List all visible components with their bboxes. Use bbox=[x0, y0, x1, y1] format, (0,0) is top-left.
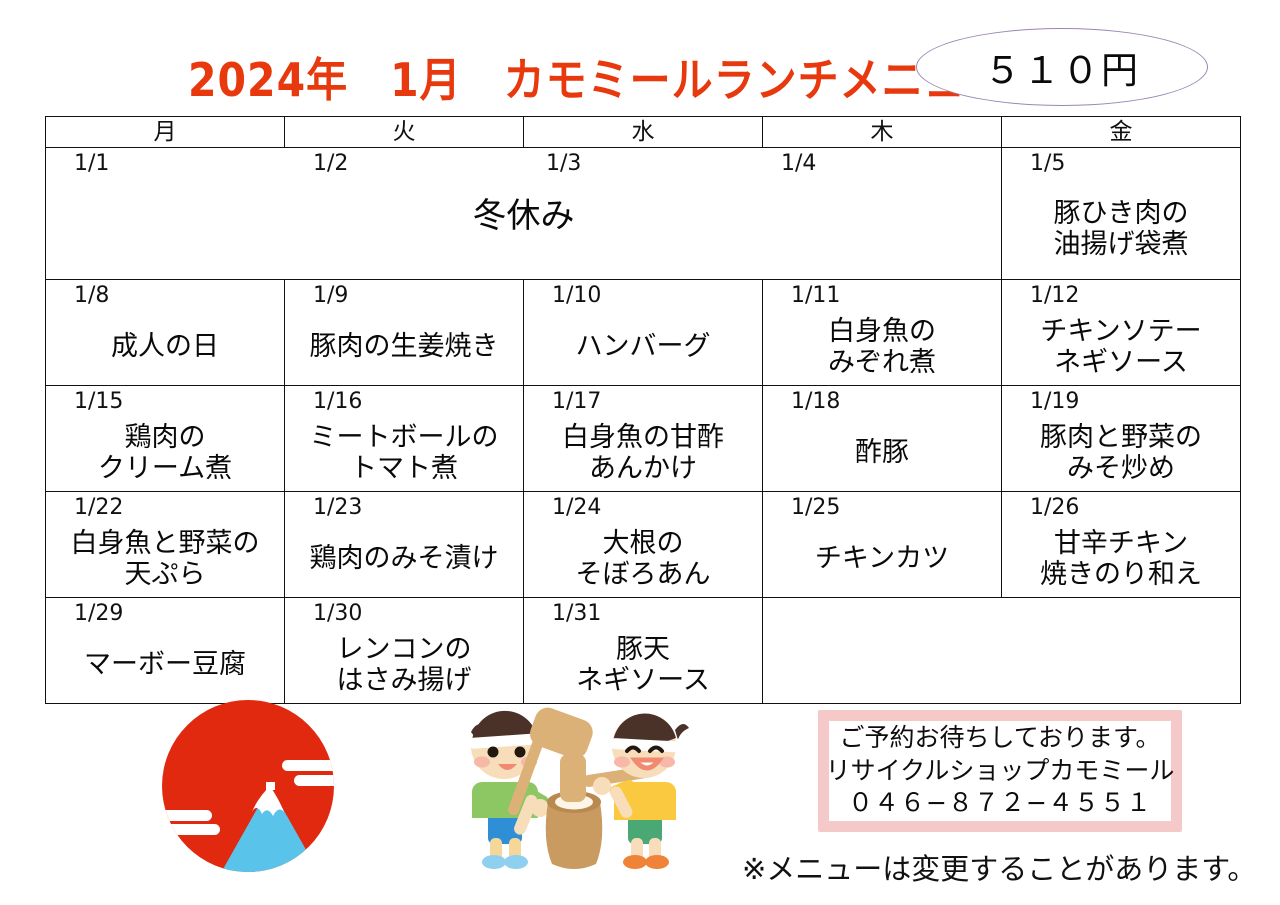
menu-cell: 1/19 豚肉と野菜の みそ炒め bbox=[1002, 386, 1241, 492]
menu-cell: 1/10 ハンバーグ bbox=[524, 280, 763, 386]
menu-cell: 1/26 甘辛チキン 焼きのり和え bbox=[1002, 492, 1241, 598]
table-row: 1/22 白身魚と野菜の 天ぷら 1/23 鶏肉のみそ漬け 1/24 大根の bbox=[46, 492, 1241, 598]
dish-name: 成人の日 bbox=[46, 310, 284, 385]
date-label: 1/9 bbox=[285, 283, 523, 308]
dish-name: 白身魚と野菜の 天ぷら bbox=[46, 522, 284, 597]
weekday-header-fri: 金 bbox=[1002, 117, 1241, 148]
menu-cell: 1/25 チキンカツ bbox=[763, 492, 1002, 598]
date-label: 1/22 bbox=[46, 495, 284, 520]
menu-change-notice: ※メニューは変更することがあります。 bbox=[742, 846, 1256, 888]
page-title: 2024年 1月 カモミールランチメニュー bbox=[188, 42, 1008, 109]
table-header-row: 月 火 水 木 金 bbox=[46, 117, 1241, 148]
mortar-usu bbox=[546, 791, 603, 869]
date-label: 1/23 bbox=[285, 495, 523, 520]
menu-cell: 1/22 白身魚と野菜の 天ぷら bbox=[46, 492, 285, 598]
dish-name: ミートボールの トマト煮 bbox=[285, 416, 523, 491]
date-label: 1/8 bbox=[46, 283, 284, 308]
stamp-edge-top bbox=[824, 705, 1176, 716]
dish-name: チキンカツ bbox=[763, 522, 1001, 597]
date-label: 1/31 bbox=[524, 601, 762, 626]
dish-name: 豚肉と野菜の みそ炒め bbox=[1002, 416, 1240, 491]
dish-name: 酢豚 bbox=[763, 416, 1001, 491]
dish-name: レンコンの はさみ揚げ bbox=[285, 628, 523, 703]
date-label: 1/26 bbox=[1002, 495, 1240, 520]
winter-break-cell: 1/1 1/2 1/3 1/4 冬休み bbox=[46, 148, 1002, 280]
price-badge: ５１０円 bbox=[916, 28, 1208, 106]
dish-name: ハンバーグ bbox=[524, 310, 762, 385]
dish-name: 豚肉の生姜焼き bbox=[285, 310, 523, 385]
reservation-line-1: ご予約お待ちしております。 bbox=[839, 722, 1160, 755]
menu-calendar-table: 月 火 水 木 金 1/1 1/2 1/3 1/4 冬休み bbox=[45, 116, 1241, 704]
menu-poster: 2024年 1月 カモミールランチメニュー ５１０円 月 火 水 木 金 1/1 bbox=[0, 0, 1280, 905]
dish-name: 白身魚の甘酢 あんかけ bbox=[524, 416, 762, 491]
date-label: 1/4 bbox=[781, 151, 816, 176]
dish-name: 甘辛チキン 焼きのり和え bbox=[1002, 522, 1240, 597]
empty-cell bbox=[763, 598, 1241, 704]
menu-cell: 1/5 豚ひき肉の 油揚げ袋煮 bbox=[1002, 148, 1241, 280]
mount-fuji-sunrise-icon bbox=[142, 700, 354, 878]
weekday-header-tue: 火 bbox=[285, 117, 524, 148]
dish-name: 鶏肉の クリーム煮 bbox=[46, 416, 284, 491]
menu-cell: 1/11 白身魚の みぞれ煮 bbox=[763, 280, 1002, 386]
weekday-header-wed: 水 bbox=[524, 117, 763, 148]
date-label: 1/19 bbox=[1002, 389, 1240, 414]
dish-name: マーボー豆腐 bbox=[46, 628, 284, 703]
weekday-header-mon: 月 bbox=[46, 117, 285, 148]
weekday-header-thu: 木 bbox=[763, 117, 1002, 148]
dish-name: チキンソテー ネギソース bbox=[1002, 310, 1240, 385]
table-row: 1/8 成人の日 1/9 豚肉の生姜焼き 1/10 ハンバーグ bbox=[46, 280, 1241, 386]
menu-cell: 1/16 ミートボールの トマト煮 bbox=[285, 386, 524, 492]
menu-cell: 1/18 酢豚 bbox=[763, 386, 1002, 492]
mochi-pounding-children-icon bbox=[432, 698, 712, 880]
stamp-edge-bottom bbox=[824, 826, 1176, 837]
date-label: 1/17 bbox=[524, 389, 762, 414]
dish-name: 豚ひき肉の 油揚げ袋煮 bbox=[1002, 180, 1240, 279]
date-label: 1/11 bbox=[763, 283, 1001, 308]
table-row: 1/1 1/2 1/3 1/4 冬休み 1/5 豚ひき肉の 油揚げ袋煮 bbox=[46, 148, 1241, 280]
date-label: 1/24 bbox=[524, 495, 762, 520]
date-label: 1/15 bbox=[46, 389, 284, 414]
date-label: 1/5 bbox=[1002, 151, 1240, 176]
table-row: 1/15 鶏肉の クリーム煮 1/16 ミートボールの トマト煮 1/17 bbox=[46, 386, 1241, 492]
menu-cell: 1/31 豚天 ネギソース bbox=[524, 598, 763, 704]
menu-cell: 1/23 鶏肉のみそ漬け bbox=[285, 492, 524, 598]
menu-cell: 1/8 成人の日 bbox=[46, 280, 285, 386]
menu-cell: 1/30 レンコンの はさみ揚げ bbox=[285, 598, 524, 704]
date-label: 1/12 bbox=[1002, 283, 1240, 308]
date-label: 1/3 bbox=[546, 151, 581, 176]
price-text: ５１０円 bbox=[984, 40, 1140, 94]
child-right bbox=[593, 714, 693, 869]
menu-cell: 1/24 大根の そぼろあん bbox=[524, 492, 763, 598]
menu-cell: 1/29 マーボー豆腐 bbox=[46, 598, 285, 704]
dish-name: 白身魚の みぞれ煮 bbox=[763, 310, 1001, 385]
stamp-inner: ご予約お待ちしております。 リサイクルショップカモミール ０４６−８７２−４５５… bbox=[829, 721, 1171, 821]
date-label: 1/2 bbox=[313, 151, 348, 176]
shop-name: リサイクルショップカモミール bbox=[826, 755, 1175, 788]
dish-name: 豚天 ネギソース bbox=[524, 628, 762, 703]
date-label: 1/10 bbox=[524, 283, 762, 308]
dish-name: 鶏肉のみそ漬け bbox=[285, 522, 523, 597]
table-row: 1/29 マーボー豆腐 1/30 レンコンの はさみ揚げ 1/31 豚天 bbox=[46, 598, 1241, 704]
header: 2024年 1月 カモミールランチメニュー ５１０円 bbox=[0, 0, 1280, 112]
winter-break-label: 冬休み bbox=[46, 188, 1001, 237]
reservation-stamp: ご予約お待ちしております。 リサイクルショップカモミール ０４６−８７２−４５５… bbox=[818, 710, 1182, 832]
menu-cell: 1/17 白身魚の甘酢 あんかけ bbox=[524, 386, 763, 492]
date-label: 1/25 bbox=[763, 495, 1001, 520]
dish-name: 大根の そぼろあん bbox=[524, 522, 762, 597]
menu-cell: 1/9 豚肉の生姜焼き bbox=[285, 280, 524, 386]
phone-number: ０４６−８７２−４５５１ bbox=[848, 787, 1152, 820]
date-label: 1/16 bbox=[285, 389, 523, 414]
date-label: 1/18 bbox=[763, 389, 1001, 414]
date-label: 1/1 bbox=[74, 151, 109, 176]
menu-cell: 1/12 チキンソテー ネギソース bbox=[1002, 280, 1241, 386]
date-label: 1/29 bbox=[46, 601, 284, 626]
menu-cell: 1/15 鶏肉の クリーム煮 bbox=[46, 386, 285, 492]
date-label: 1/30 bbox=[285, 601, 523, 626]
winter-break-dates: 1/1 1/2 1/3 1/4 bbox=[46, 151, 1001, 181]
